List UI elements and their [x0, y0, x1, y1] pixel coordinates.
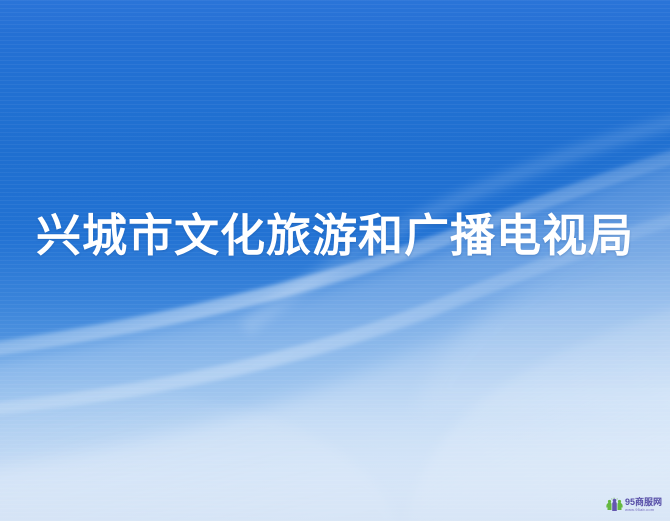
watermark-url: www.95ab.com [625, 508, 660, 512]
site-banner: 兴城市文化旅游和广播电视局 95商服网 www.95ab.com [0, 0, 670, 521]
background-top-band [0, 0, 670, 34]
people-logo-icon [606, 497, 623, 513]
watermark-name: 95商服网 [625, 498, 662, 507]
page-title: 兴城市文化旅游和广播电视局 [36, 206, 634, 266]
watermark: 95商服网 www.95ab.com [606, 497, 662, 513]
watermark-text: 95商服网 www.95ab.com [625, 498, 662, 512]
page-title-container: 兴城市文化旅游和广播电视局 [0, 206, 670, 266]
